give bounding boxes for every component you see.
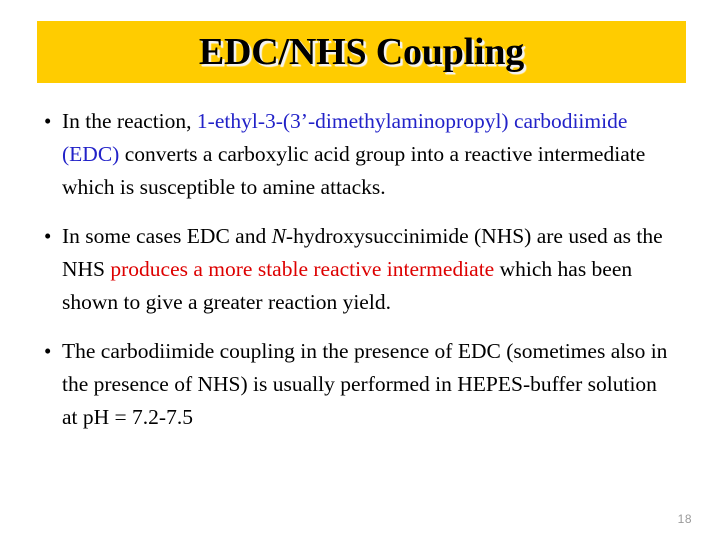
slide-body: • In the reaction, 1-ethyl-3-(3’-dimethy… [40,105,680,450]
bullet-marker-icon: • [40,220,62,253]
text-run-red: produces a more stable reactive intermed… [110,257,494,281]
bullet-item-3: • The carbodiimide coupling in the prese… [40,335,680,434]
text-run-normal: In the reaction, [62,109,197,133]
page-number: 18 [678,512,692,526]
bullet-text-3: The carbodiimide coupling in the presenc… [62,335,680,434]
bullet-marker-icon: • [40,105,62,138]
text-run-normal: converts a carboxylic acid group into a … [62,142,645,199]
slide: EDC/NHS Coupling • In the reaction, 1-et… [0,0,720,540]
text-run-italic: N [272,224,286,248]
bullet-text-2: In some cases EDC and N-hydroxysuccinimi… [62,220,680,319]
bullet-item-1: • In the reaction, 1-ethyl-3-(3’-dimethy… [40,105,680,204]
bullet-marker-icon: • [40,335,62,368]
text-run-normal: The carbodiimide coupling in the presenc… [62,339,667,429]
page-title: EDC/NHS Coupling [37,24,686,80]
bullet-item-2: • In some cases EDC and N-hydroxysuccini… [40,220,680,319]
text-run-normal: In some cases EDC and [62,224,272,248]
bullet-text-1: In the reaction, 1-ethyl-3-(3’-dimethyla… [62,105,680,204]
